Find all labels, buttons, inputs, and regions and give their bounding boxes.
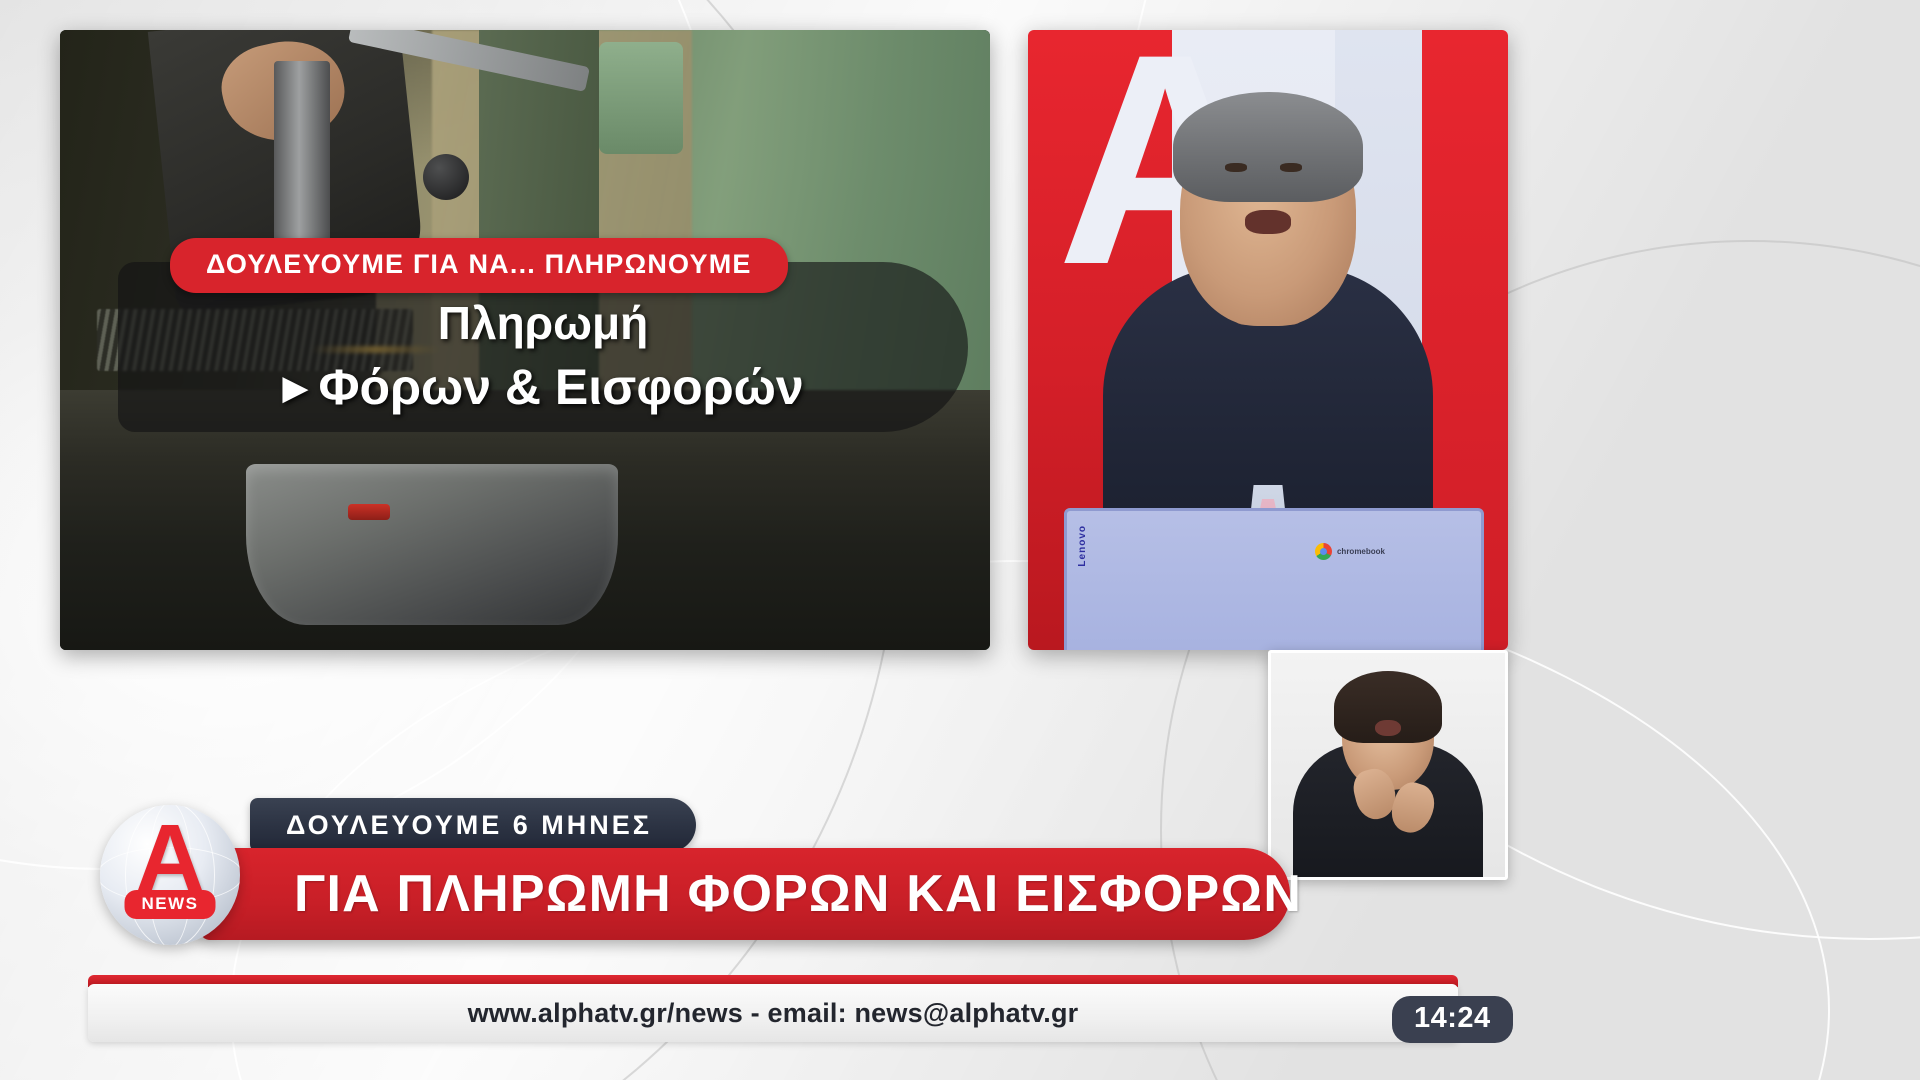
video-overlay-title: Πληρωμή [118,296,968,350]
video-overlay-subtitle-text: Φόρων & Εισφορών [318,359,803,415]
laptop-brand-label: Lenovo [1077,525,1088,567]
lower-third-kicker-text: ΔΟΥΛΕΥΟΥΜΕ 6 ΜΗΝΕΣ [286,810,652,841]
machine-knob [423,154,469,200]
video-overlay-kicker: ΔΟΥΛΕΥΟΥΜΕ ΓΙΑ ΝΑ... ΠΛΗΡΩΝΟΥΜΕ [170,238,788,293]
clock-badge: 14:24 [1392,996,1513,1043]
chromebook-label: chromebook [1337,547,1385,556]
metal-bowl [246,464,618,625]
footer-bar: www.alphatv.gr/news - email: news@alphat… [88,984,1458,1042]
scene-cylinder [599,42,683,154]
signer-mouth [1375,720,1401,736]
red-cap [348,504,390,520]
logo-news-badge: NEWS [125,890,216,919]
anchor-video-panel: A Lenovo chromebook [1028,30,1508,650]
video-overlay-subtitle: ▶Φόρων & Εισφορών [118,358,968,416]
anchor-mouth [1245,210,1291,234]
anchor-hair [1173,92,1363,202]
chromebook-sticker: chromebook [1315,543,1385,560]
laptop-lid: Lenovo chromebook [1064,508,1484,650]
anchor-eye-left [1225,163,1247,172]
laptop: Lenovo chromebook [1064,508,1484,650]
sign-language-inset [1268,650,1508,880]
lower-third-kicker-bar: ΔΟΥΛΕΥΟΥΜΕ 6 ΜΗΝΕΣ [250,798,696,852]
lower-third-headline-text: ΓΙΑ ΠΛΗΡΩΜΗ ΦΟΡΩΝ ΚΑΙ ΕΙΣΦΟΡΩΝ [294,864,1302,924]
play-arrow-icon: ▶ [282,369,308,407]
footer-contact-text: www.alphatv.gr/news - email: news@alphat… [468,998,1079,1029]
chrome-icon [1315,543,1332,560]
lower-third-headline-bar: ΓΙΑ ΠΛΗΡΩΜΗ ΦΟΡΩΝ ΚΑΙ ΕΙΣΦΟΡΩΝ [200,848,1290,940]
alpha-news-logo: A NEWS [100,805,240,945]
anchor-eye-right [1280,163,1302,172]
